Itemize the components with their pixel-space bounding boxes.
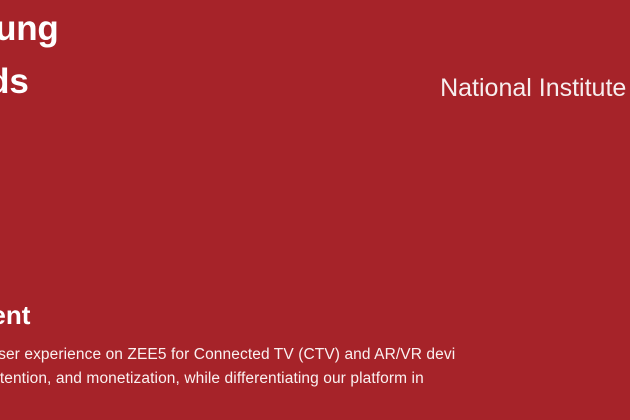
presenter-name-2: Steev: [190, 38, 630, 72]
presenter-name-1: Nidhi: [190, 4, 630, 38]
body-line-1: nance the user experience on ZEE5 for Co…: [0, 343, 630, 367]
body-line-2: agement, retention, and monetization, wh…: [0, 367, 630, 391]
affiliation-text: National Institute of Fashion: [50, 72, 630, 104]
section-heading: tatement: [0, 298, 30, 332]
body-line-3: market?: [0, 390, 630, 414]
slide-header: us Young Awards Nidhi Steev National Ins…: [0, 0, 630, 115]
presentation-slide: us Young Awards Nidhi Steev National Ins…: [0, 0, 630, 420]
slide-blank-area: [0, 115, 630, 295]
presenter-names: Nidhi Steev: [190, 4, 630, 72]
section-body-text: nance the user experience on ZEE5 for Co…: [0, 343, 630, 414]
